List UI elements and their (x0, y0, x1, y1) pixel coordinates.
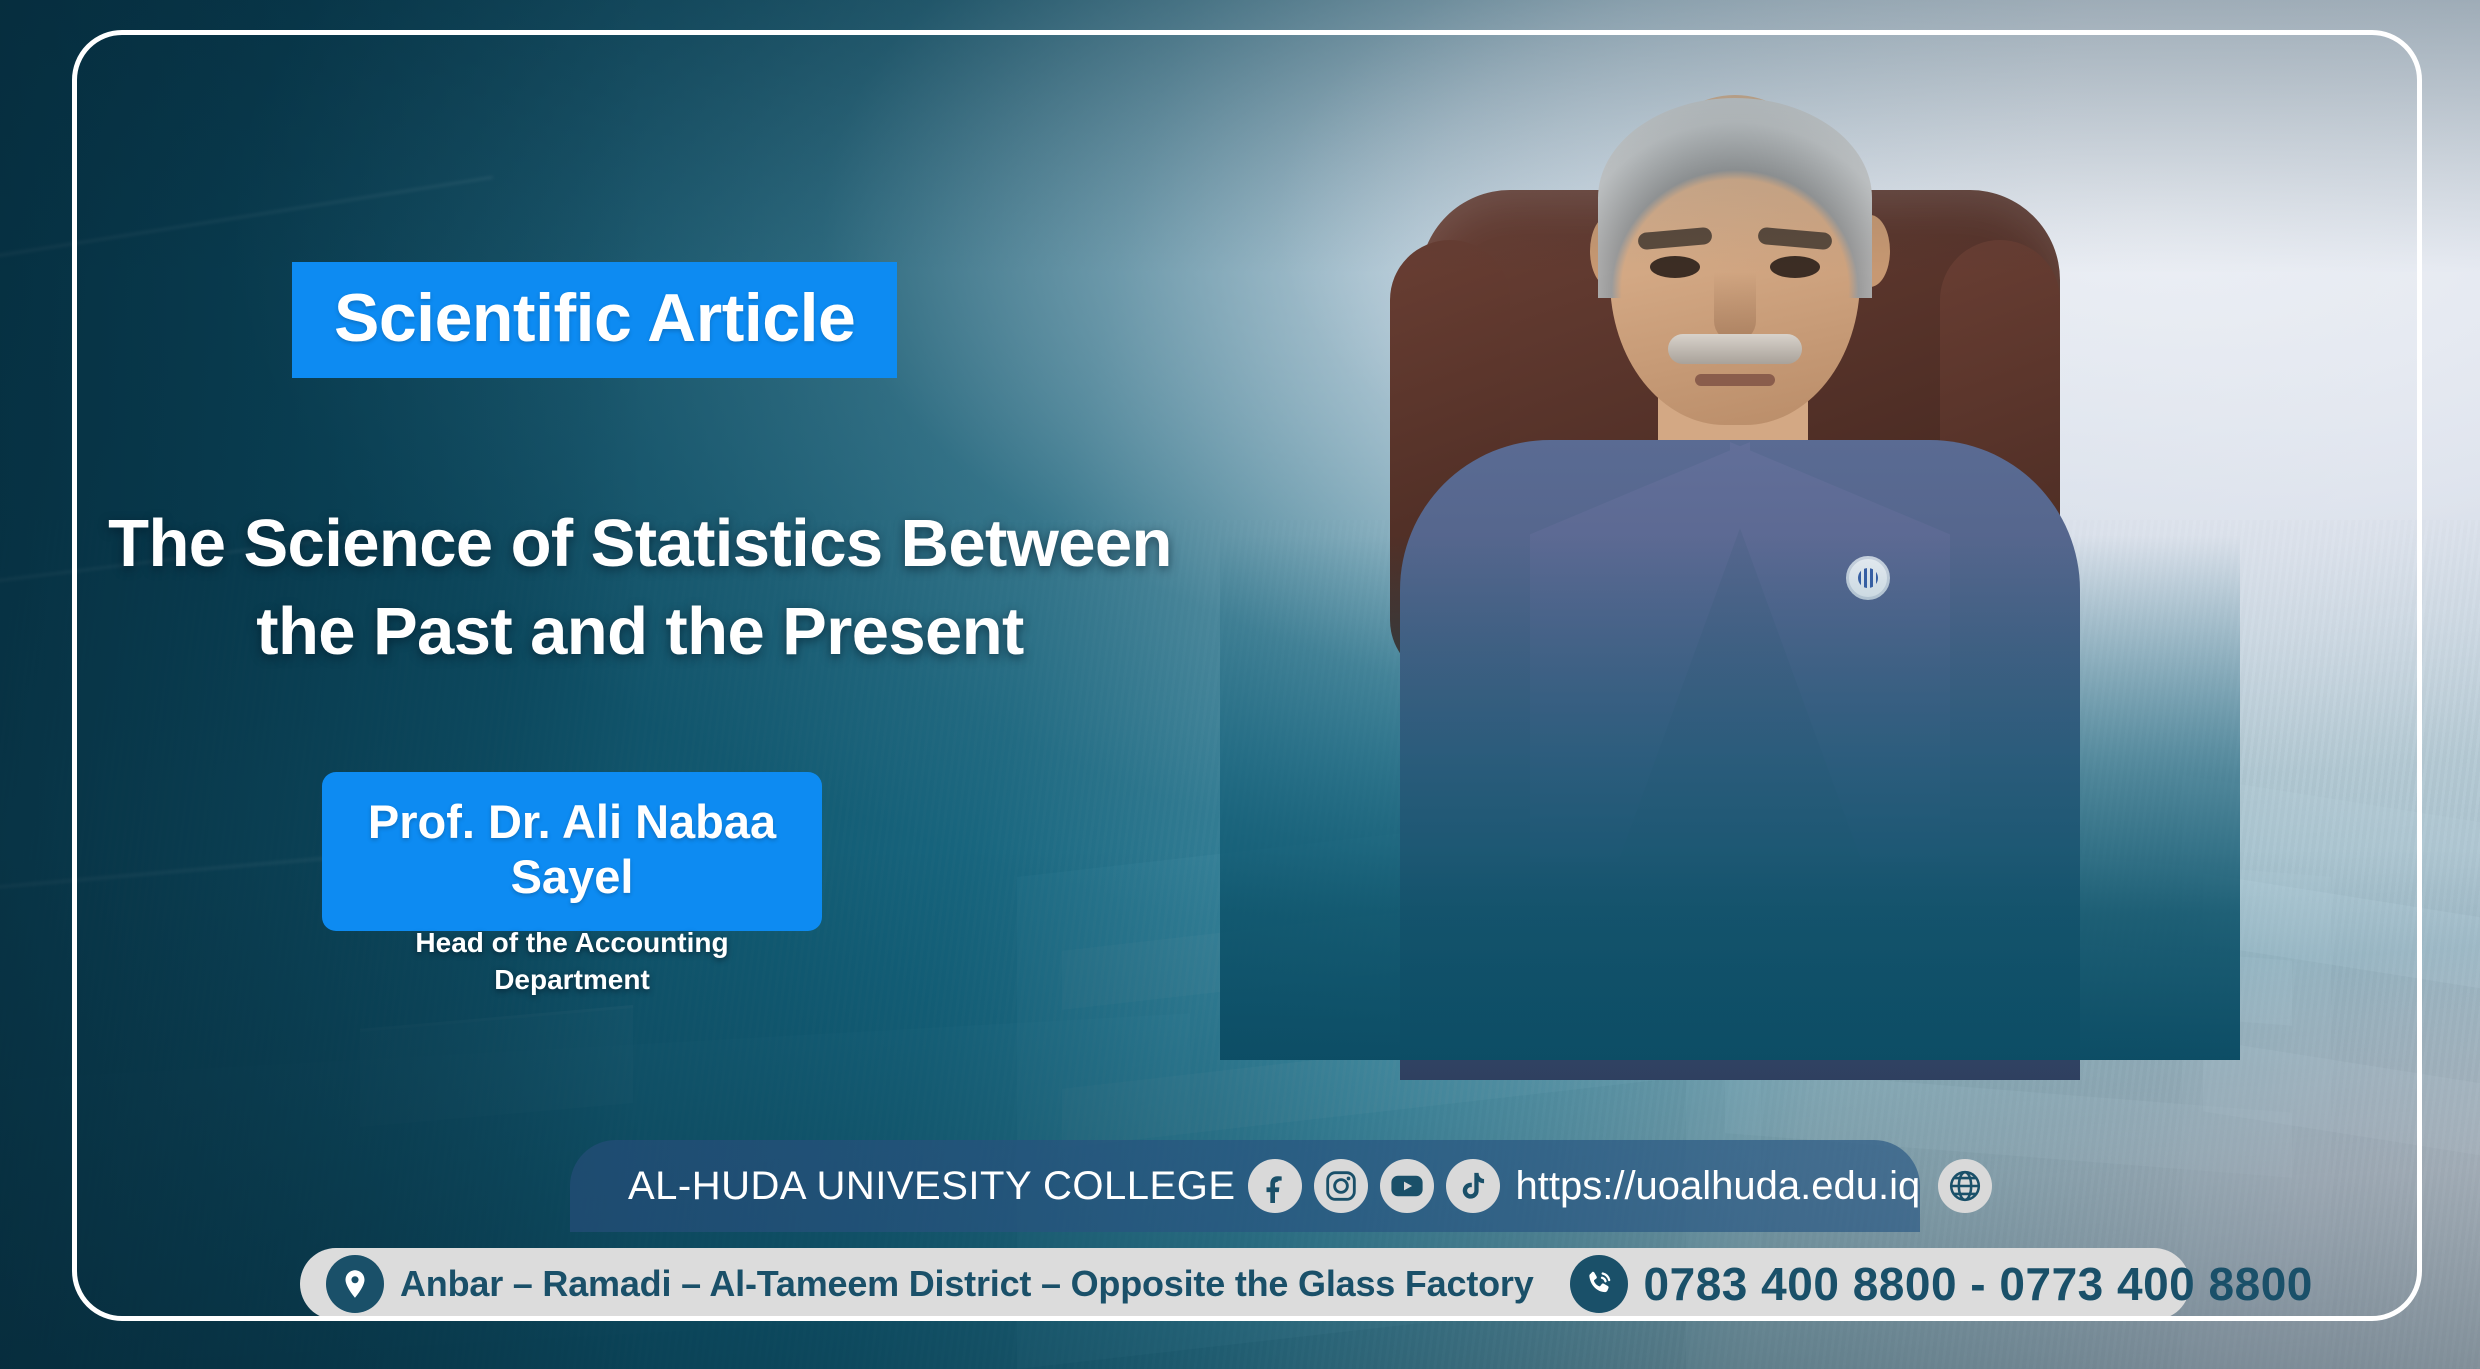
author-name-badge: Prof. Dr. Ali Nabaa Sayel (322, 772, 822, 931)
website-url[interactable]: https://uoalhuda.edu.iq (1516, 1164, 1921, 1209)
location-pin-icon (326, 1255, 384, 1313)
phone-group: 0783 400 8800 - 0773 400 8800 (1570, 1255, 2313, 1313)
author-role-line-2: Department (322, 962, 822, 999)
author-role-line-1: Head of the Accounting (322, 925, 822, 962)
phone-call-icon (1570, 1255, 1628, 1313)
phone-numbers: 0783 400 8800 - 0773 400 8800 (1644, 1257, 2313, 1311)
contact-bar: Anbar – Ramadi – Al-Tameem District – Op… (300, 1248, 2190, 1320)
page-title: The Science of Statistics Between the Pa… (60, 500, 1220, 677)
footer-bar: AL-HUDA UNIVESITY COLLEGE https: (570, 1140, 1920, 1232)
article-type-badge: Scientific Article (292, 262, 897, 378)
globe-icon[interactable] (1938, 1159, 1992, 1213)
author-name-line-1: Prof. Dr. Ali Nabaa (348, 794, 796, 849)
page-title-line-1: The Science of Statistics Between (60, 500, 1220, 588)
page-title-line-2: the Past and the Present (60, 588, 1220, 676)
address-text: Anbar – Ramadi – Al-Tameem District – Op… (400, 1263, 1534, 1305)
tiktok-icon[interactable] (1446, 1159, 1500, 1213)
promo-banner: Scientific Article The Science of Statis… (0, 0, 2480, 1369)
college-name: AL-HUDA UNIVESITY COLLEGE (628, 1164, 1236, 1209)
youtube-icon[interactable] (1380, 1159, 1434, 1213)
author-role: Head of the Accounting Department (322, 925, 822, 999)
author-name-line-2: Sayel (348, 849, 796, 904)
instagram-icon[interactable] (1314, 1159, 1368, 1213)
facebook-icon[interactable] (1248, 1159, 1302, 1213)
